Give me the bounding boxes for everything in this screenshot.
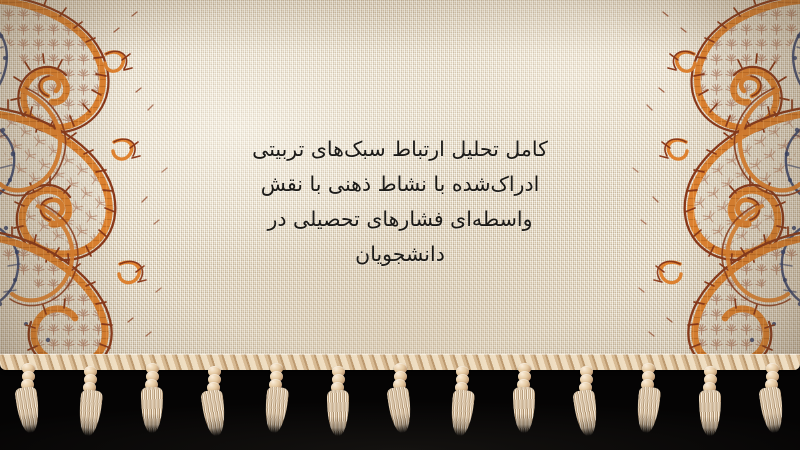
tassel-skirt — [141, 387, 163, 433]
tassel-skirt — [77, 389, 104, 437]
tassel-fringe — [0, 354, 800, 450]
fringe-tassel — [387, 363, 413, 439]
title-line-1: کامل تحلیل ارتباط سبک‌های تربیتی — [214, 132, 586, 167]
fringe-tassel — [697, 366, 723, 442]
fringe-tassel — [263, 363, 289, 439]
fringe-tassel — [201, 366, 227, 442]
title-slide: کامل تحلیل ارتباط سبک‌های تربیتی ادراک‌ش… — [0, 0, 800, 450]
tassel-skirt — [758, 386, 785, 434]
fringe-tassel — [759, 363, 785, 439]
tassel-skirt — [635, 386, 662, 434]
fringe-tassel — [573, 366, 599, 442]
tassel-skirt — [699, 390, 721, 436]
fringe-tassel — [635, 363, 661, 439]
fringe-tassel — [511, 363, 537, 439]
fringe-tassel — [139, 363, 165, 439]
tassel-skirt — [200, 389, 227, 437]
fringe-tassel — [449, 366, 475, 442]
fringe-tassel — [15, 363, 41, 439]
tassel-skirt — [14, 386, 41, 434]
tassel-skirt — [327, 390, 349, 436]
tassel-skirt — [386, 386, 413, 434]
fringe-tassel — [325, 366, 351, 442]
title-line-2: ادراک‌شده با نشاط ذهنی با نقش — [214, 167, 586, 202]
tassel-skirt — [572, 389, 599, 437]
tassel-skirt — [263, 386, 290, 434]
slide-title: کامل تحلیل ارتباط سبک‌های تربیتی ادراک‌ش… — [214, 132, 586, 272]
title-line-3: واسطه‌ای فشارهای تحصیلی در — [214, 202, 586, 237]
tassel-skirt — [513, 387, 535, 433]
tassel-skirt — [449, 389, 476, 437]
fringe-tassel — [77, 366, 103, 442]
title-line-4: دانشجویان — [214, 237, 586, 272]
